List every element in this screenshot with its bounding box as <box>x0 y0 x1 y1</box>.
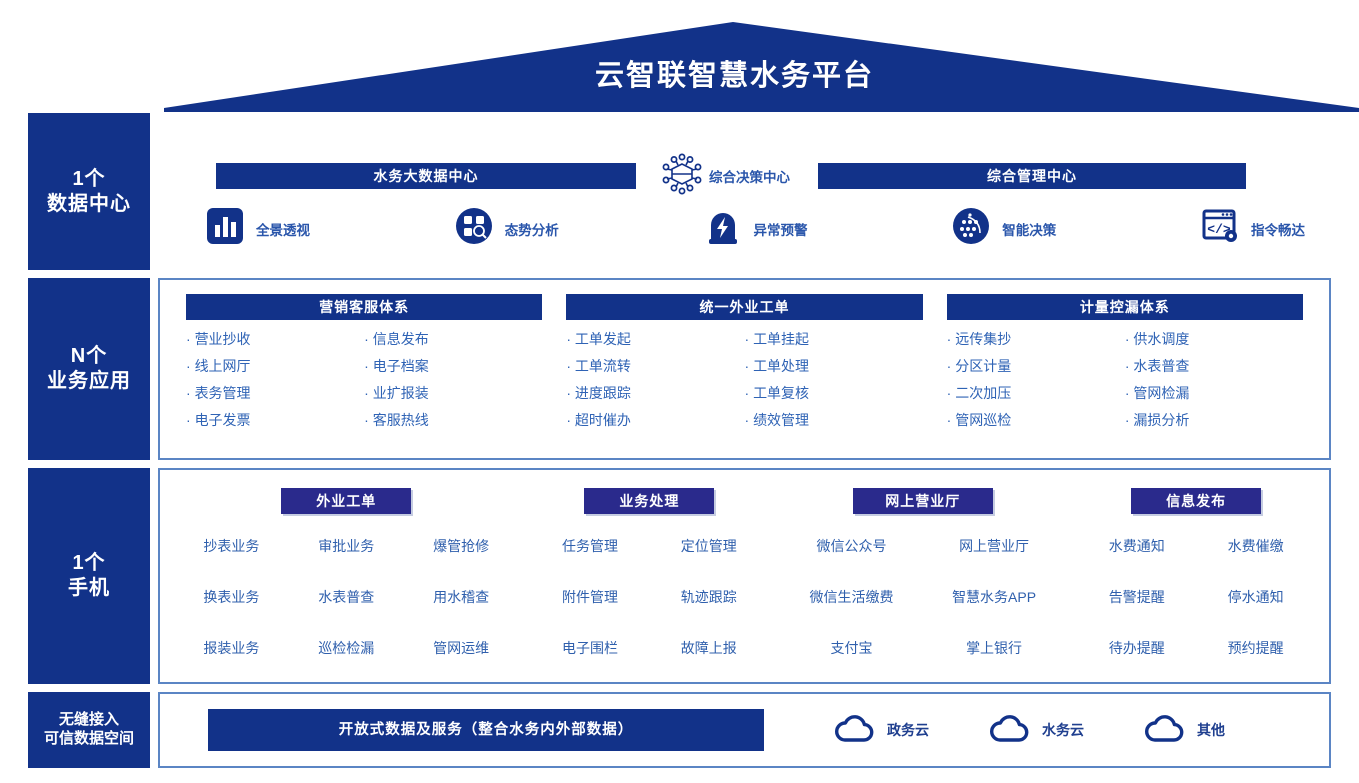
phone-item[interactable]: 待办提醒 <box>1077 638 1196 658</box>
app-item[interactable]: 电子档案 <box>364 359 542 373</box>
cloud-label: 其他 <box>1197 720 1225 740</box>
phone-column: 水费催缴 停水通知 预约提醒 <box>1196 536 1315 689</box>
section-label-data-center: 1个 数据中心 <box>28 113 150 270</box>
app-item[interactable]: 漏损分析 <box>1125 413 1303 427</box>
phone-item[interactable]: 水费通知 <box>1077 536 1196 556</box>
capability-label: 异常预警 <box>754 219 808 239</box>
cloud-icon <box>834 713 876 748</box>
data-center-capability-list: 全景透视 态势分析 <box>204 205 1305 252</box>
phone-item[interactable]: 微信生活缴费 <box>780 587 923 607</box>
mobile-body: 外业工单 抄表业务 换表业务 报装业务 审批业务 水表普查 巡检检漏 <box>158 468 1331 684</box>
phone-column: 定位管理 轨迹跟踪 故障上报 <box>649 536 768 689</box>
phone-item[interactable]: 水表普查 <box>289 587 404 607</box>
phone-group-title[interactable]: 外业工单 <box>281 488 411 514</box>
decision-center-node[interactable]: 综合决策中心 <box>664 153 790 198</box>
phone-item[interactable]: 附件管理 <box>531 587 650 607</box>
capability-smart-decision[interactable]: 智能决策 <box>950 205 1056 252</box>
phone-group-title[interactable]: 网上营业厅 <box>853 488 993 514</box>
data-center-body: 水务大数据中心 <box>158 113 1331 270</box>
app-item[interactable]: 工单复核 <box>745 386 923 400</box>
app-item[interactable]: 绩效管理 <box>745 413 923 427</box>
section-data-center: 1个 数据中心 水务大数据中心 <box>28 113 1331 270</box>
phone-item[interactable]: 支付宝 <box>780 638 923 658</box>
app-item[interactable]: 二次加压 <box>947 386 1125 400</box>
app-item[interactable]: 进度跟踪 <box>566 386 744 400</box>
app-item[interactable]: 管网巡检 <box>947 413 1125 427</box>
bar-chart-icon <box>204 205 246 252</box>
app-item[interactable]: 分区计量 <box>947 359 1125 373</box>
app-item[interactable]: 工单流转 <box>566 359 744 373</box>
app-item[interactable]: 工单处理 <box>745 359 923 373</box>
capability-label: 态势分析 <box>505 219 559 239</box>
app-item[interactable]: 供水调度 <box>1125 332 1303 346</box>
app-item[interactable]: 信息发布 <box>364 332 542 346</box>
section-label-business-apps: N个 业务应用 <box>28 278 150 460</box>
phone-item[interactable]: 报装业务 <box>174 638 289 658</box>
app-column: 供水调度 水表普查 管网检漏 漏损分析 <box>1125 332 1303 440</box>
decision-network-icon <box>664 153 700 198</box>
app-group-title[interactable]: 计量控漏体系 <box>947 294 1303 320</box>
cloud-water[interactable]: 水务云 <box>989 713 1084 748</box>
phone-group-online-hall: 网上营业厅 微信公众号 微信生活缴费 支付宝 网上营业厅 智慧水务APP 掌上银… <box>774 484 1071 672</box>
phone-item[interactable]: 抄表业务 <box>174 536 289 556</box>
phone-item[interactable]: 故障上报 <box>649 638 768 658</box>
code-window-gear-icon: </> <box>1199 205 1241 252</box>
phone-column: 微信公众号 微信生活缴费 支付宝 <box>780 536 923 689</box>
app-item[interactable]: 远传集抄 <box>947 332 1125 346</box>
section-business-apps: N个 业务应用 营销客服体系 营业抄收 线上网厅 表务管理 电子发票 信息 <box>28 278 1331 460</box>
phone-group-field-work-order: 外业工单 抄表业务 换表业务 报装业务 审批业务 水表普查 巡检检漏 <box>168 484 525 672</box>
section-data-space: 无缝接入 可信数据空间 开放式数据及服务（整合水务内外部数据） 政务云 <box>28 692 1331 768</box>
phone-item[interactable]: 定位管理 <box>649 536 768 556</box>
app-group-marketing: 营销客服体系 营业抄收 线上网厅 表务管理 电子发票 信息发布 电子档案 业扩报… <box>174 290 554 450</box>
capability-command[interactable]: </> 指令畅达 <box>1199 205 1305 252</box>
phone-item[interactable]: 掌上银行 <box>923 638 1066 658</box>
app-item[interactable]: 电子发票 <box>186 413 364 427</box>
app-group-work-order: 统一外业工单 工单发起 工单流转 进度跟踪 超时催办 工单挂起 工单处理 工单复… <box>554 290 934 450</box>
phone-column: 水费通知 告警提醒 待办提醒 <box>1077 536 1196 689</box>
section-label-line1: N个 <box>71 344 107 369</box>
app-column: 工单发起 工单流转 进度跟踪 超时催办 <box>566 332 744 440</box>
app-item[interactable]: 表务管理 <box>186 386 364 400</box>
app-item[interactable]: 工单挂起 <box>745 332 923 346</box>
phone-column: 爆管抢修 用水稽查 管网运维 <box>404 536 519 689</box>
phone-column: 审批业务 水表普查 巡检检漏 <box>289 536 404 689</box>
architecture-diagram: 云智联智慧水务平台 1个 数据中心 水务大数据中心 <box>0 0 1359 783</box>
phone-item[interactable]: 智慧水务APP <box>923 587 1066 607</box>
phone-group-info-release: 信息发布 水费通知 告警提醒 待办提醒 水费催缴 停水通知 预约提醒 <box>1071 484 1321 672</box>
cloud-label: 政务云 <box>887 720 929 740</box>
phone-column: 任务管理 附件管理 电子围栏 <box>531 536 650 689</box>
phone-item[interactable]: 用水稽查 <box>404 587 519 607</box>
cloud-other[interactable]: 其他 <box>1144 713 1225 748</box>
phone-group-title[interactable]: 业务处理 <box>584 488 714 514</box>
phone-column: 抄表业务 换表业务 报装业务 <box>174 536 289 689</box>
section-label-data-space: 无缝接入 可信数据空间 <box>28 692 150 768</box>
capability-situation[interactable]: 态势分析 <box>453 205 559 252</box>
phone-group-title[interactable]: 信息发布 <box>1131 488 1261 514</box>
data-center-bars: 水务大数据中心 <box>158 153 1331 198</box>
cloud-icon <box>1144 713 1186 748</box>
section-label-line1: 1个 <box>72 551 105 576</box>
app-item[interactable]: 超时催办 <box>566 413 744 427</box>
cloud-icon <box>989 713 1031 748</box>
phone-item[interactable]: 爆管抢修 <box>404 536 519 556</box>
section-label-line2: 数据中心 <box>47 192 131 217</box>
phone-item[interactable]: 管网运维 <box>404 638 519 658</box>
capability-alert[interactable]: 异常预警 <box>702 205 808 252</box>
app-column: 远传集抄 分区计量 二次加压 管网巡检 <box>947 332 1125 440</box>
section-label-line2: 手机 <box>68 576 110 601</box>
data-space-body: 开放式数据及服务（整合水务内外部数据） 政务云 <box>158 692 1331 768</box>
app-column: 信息发布 电子档案 业扩报装 客服热线 <box>364 332 542 440</box>
section-label-line2: 可信数据空间 <box>44 730 134 749</box>
bar-management-center[interactable]: 综合管理中心 <box>818 163 1246 189</box>
phone-item[interactable]: 水费催缴 <box>1196 536 1315 556</box>
app-item[interactable]: 管网检漏 <box>1125 386 1303 400</box>
app-item[interactable]: 营业抄收 <box>186 332 364 346</box>
business-apps-body: 营销客服体系 营业抄收 线上网厅 表务管理 电子发票 信息发布 电子档案 业扩报… <box>158 278 1331 460</box>
grid-search-icon <box>453 205 495 252</box>
app-group-title[interactable]: 统一外业工单 <box>566 294 922 320</box>
capability-label: 全景透视 <box>256 219 310 239</box>
phone-item[interactable]: 网上营业厅 <box>923 536 1066 556</box>
app-column: 工单挂起 工单处理 工单复核 绩效管理 <box>745 332 923 440</box>
cloud-label: 水务云 <box>1042 720 1084 740</box>
page-title: 云智联智慧水务平台 <box>0 52 1359 94</box>
section-label-mobile: 1个 手机 <box>28 468 150 684</box>
app-item[interactable]: 客服热线 <box>364 413 542 427</box>
app-item[interactable]: 线上网厅 <box>186 359 364 373</box>
decision-center-label: 综合决策中心 <box>709 166 790 186</box>
app-item[interactable]: 业扩报装 <box>364 386 542 400</box>
phone-group-business-process: 业务处理 任务管理 附件管理 电子围栏 定位管理 轨迹跟踪 故障上报 <box>525 484 775 672</box>
phone-item[interactable]: 任务管理 <box>531 536 650 556</box>
app-group-metering: 计量控漏体系 远传集抄 分区计量 二次加压 管网巡检 供水调度 水表普查 管网检… <box>935 290 1315 450</box>
bar-big-data-center[interactable]: 水务大数据中心 <box>216 163 636 189</box>
app-column: 营业抄收 线上网厅 表务管理 电子发票 <box>186 332 364 440</box>
section-label-line1: 1个 <box>72 167 105 192</box>
phone-item[interactable]: 换表业务 <box>174 587 289 607</box>
phone-item[interactable]: 停水通知 <box>1196 587 1315 607</box>
phone-item[interactable]: 轨迹跟踪 <box>649 587 768 607</box>
phone-item[interactable]: 电子围栏 <box>531 638 650 658</box>
header-roof: 云智联智慧水务平台 <box>0 0 1359 112</box>
cloud-gov[interactable]: 政务云 <box>834 713 929 748</box>
phone-item[interactable]: 审批业务 <box>289 536 404 556</box>
app-group-title[interactable]: 营销客服体系 <box>186 294 542 320</box>
phone-column: 网上营业厅 智慧水务APP 掌上银行 <box>923 536 1066 689</box>
app-item[interactable]: 工单发起 <box>566 332 744 346</box>
capability-panorama[interactable]: 全景透视 <box>204 205 310 252</box>
capability-label: 智能决策 <box>1002 219 1056 239</box>
cloud-list: 政务云 水务云 <box>804 713 1255 748</box>
ai-decision-icon <box>950 205 992 252</box>
section-mobile: 1个 手机 外业工单 抄表业务 换表业务 报装业务 审批业务 水表普查 <box>28 468 1331 684</box>
phone-item[interactable]: 预约提醒 <box>1196 638 1315 658</box>
phone-item[interactable]: 微信公众号 <box>780 536 923 556</box>
section-label-line1: 无缝接入 <box>59 711 119 730</box>
bar-open-data-service[interactable]: 开放式数据及服务（整合水务内外部数据） <box>208 709 764 751</box>
phone-item[interactable]: 巡检检漏 <box>289 638 404 658</box>
lightning-alert-icon <box>702 205 744 252</box>
phone-item[interactable]: 告警提醒 <box>1077 587 1196 607</box>
capability-label: 指令畅达 <box>1251 219 1305 239</box>
app-item[interactable]: 水表普查 <box>1125 359 1303 373</box>
section-label-line2: 业务应用 <box>47 369 131 394</box>
